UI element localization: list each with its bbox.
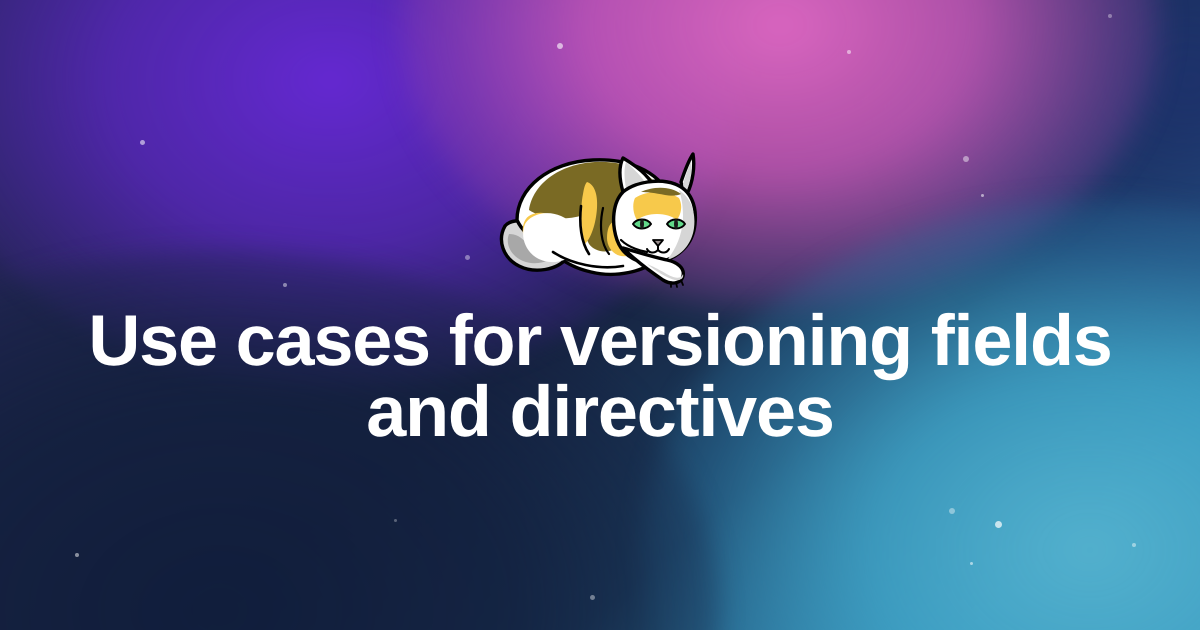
- share-card: Use cases for versioning fields and dire…: [0, 0, 1200, 630]
- title-line-2: and directives: [60, 377, 1140, 448]
- card-content: Use cases for versioning fields and dire…: [0, 0, 1200, 630]
- title-line-1: Use cases for versioning fields: [60, 306, 1140, 377]
- page-title: Use cases for versioning fields and dire…: [0, 306, 1200, 448]
- calico-cat-logo: [495, 148, 705, 290]
- cat-pupil-right: [674, 219, 678, 229]
- cat-pupil-left: [640, 219, 644, 229]
